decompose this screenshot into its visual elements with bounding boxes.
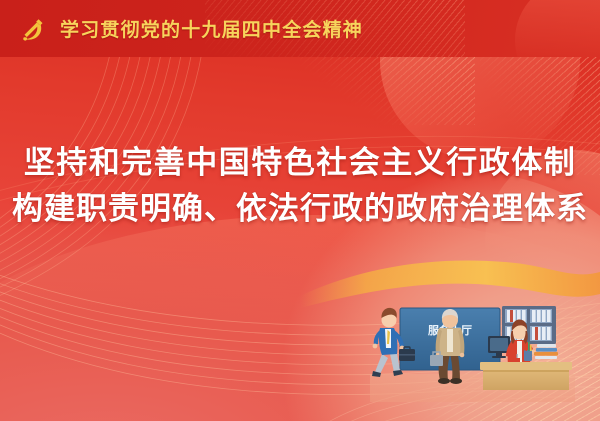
background-hatch-right xyxy=(480,55,600,175)
propaganda-poster: 学习贯彻党的十九届四中全会精神 坚持和完善中国特色社会主义行政体制 构建职责明确… xyxy=(0,0,600,421)
service-hall-illustration: 服务大厅 xyxy=(370,292,575,402)
ccp-hammer-sickle-emblem-icon xyxy=(18,15,48,43)
header-title: 学习贯彻党的十九届四中全会精神 xyxy=(60,15,363,42)
header-banner: 学习贯彻党的十九届四中全会精神 xyxy=(0,0,600,57)
